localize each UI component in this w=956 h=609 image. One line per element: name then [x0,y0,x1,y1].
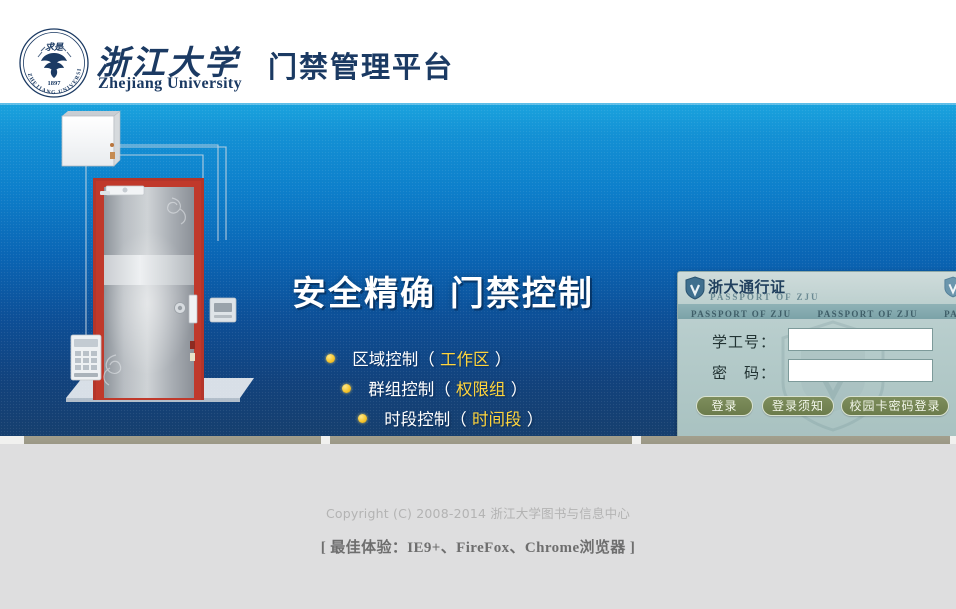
card-reader [210,298,236,322]
shield-icon [685,276,705,300]
bullet-0-prefix: 区域控制（ [352,350,435,369]
page-header: 求是 1897 ZHEJIANG UNIVERSITY 浙江大学 Zhejian… [0,0,956,103]
login-panel-header: 浙大通行证 PASSPORT OF ZJU [678,272,956,304]
strip-word: PASSPORT OF ZJU [931,307,956,319]
bullet-1-highlight: 权限组 [456,380,506,399]
bullet-dot-icon [326,354,335,363]
page-footer: Copyright (C) 2008-2014 浙江大学图书与信息中心 [ 最佳… [0,444,956,609]
copyright-text: Copyright (C) 2008-2014 浙江大学图书与信息中心 [0,503,956,522]
strip-word: PASSPORT OF ZJU [678,307,805,319]
hero-banner: 安全精确 门禁控制 区域控制（ 工作区 ） 群组控制（ 权限组 ） 时段控制（ … [0,103,956,436]
bullet-1-suffix: ） [511,380,528,399]
access-control-door-illustration [40,103,290,436]
banner-bullet-2: 时段控制（ 时间段 ） [358,406,543,430]
password-field-row: 密 码： [678,359,956,385]
banner-bullet-1: 群组控制（ 权限组 ） [342,376,527,400]
passport-watermark-strip: PASSPORT OF ZJUPASSPORT OF ZJUPASSPORT O… [678,304,956,319]
bullet-1-prefix: 群组控制（ [368,380,451,399]
nav-separator-2 [632,436,641,444]
student-staff-id-input[interactable] [788,328,933,351]
login-panel: 浙大通行证 PASSPORT OF ZJU PASSPORT OF ZJUPAS… [677,271,956,436]
nav-separator-1 [321,436,330,444]
keypad-reader [71,335,101,380]
bullet-0-suffix: ） [495,350,512,369]
login-button[interactable]: 登录 [696,396,753,416]
page-title: 门禁管理平台 [268,44,454,86]
bullet-2-prefix: 时段控制（ [384,410,467,429]
nav-gap-left [0,436,24,444]
password-label: 密 码： [696,362,776,383]
banner-headline: 安全精确 门禁控制 [292,266,594,315]
banner-bullet-0: 区域控制（ 工作区 ） [326,346,511,370]
bullet-0-highlight: 工作区 [440,350,490,369]
browser-tip-text: [ 最佳体验：IE9+、FireFox、Chrome浏览器 ] [0,536,956,557]
door-controller-box [62,111,120,166]
username-label: 学工号： [696,331,776,352]
bullet-2-highlight: 时间段 [472,410,522,429]
nav-strip[interactable] [0,436,956,444]
door-closer [100,186,144,195]
login-notice-button[interactable]: 登录须知 [762,396,834,416]
bullet-dot-icon [342,384,351,393]
zju-seal-logo: 求是 1897 ZHEJIANG UNIVERSITY [18,27,90,99]
strip-word: PASSPORT OF ZJU [805,307,932,319]
svg-text:求是: 求是 [45,42,64,52]
wordmark-english: Zhejiang University [98,75,242,93]
nav-gap-right [950,436,956,444]
bullet-2-suffix: ） [527,410,544,429]
card-password-login-button[interactable]: 校园卡密码登录 [841,396,949,416]
login-button-row: 登录 登录须知 校园卡密码登录 [678,396,956,420]
username-field-row: 学工号： [678,328,956,354]
svg-text:1897: 1897 [48,80,62,87]
shield-icon-secondary [944,276,956,298]
password-input[interactable] [788,359,933,382]
bullet-dot-icon [358,414,367,423]
login-panel-subtitle: PASSPORT OF ZJU [710,292,820,302]
